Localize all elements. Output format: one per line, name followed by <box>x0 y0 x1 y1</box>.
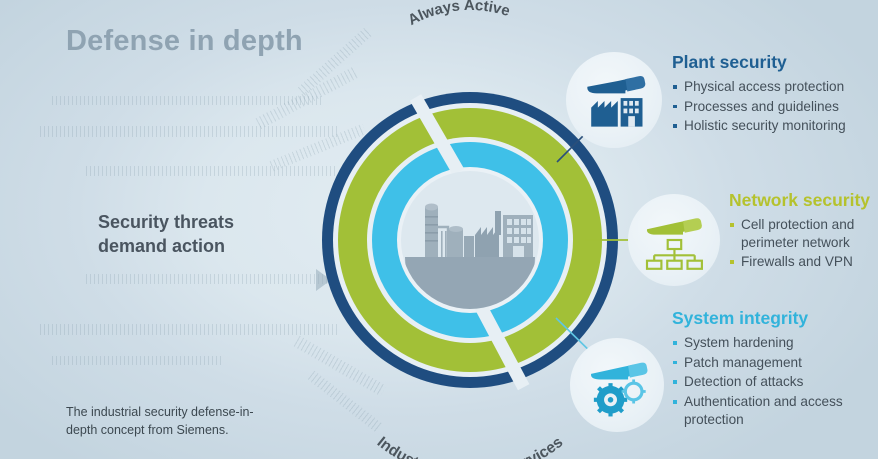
network-security-icon-bubble <box>628 194 720 286</box>
hand-over-factory-icon <box>576 62 652 138</box>
list-item: Processes and guidelines <box>672 98 878 116</box>
list-item: Authentication and access protection <box>672 393 872 428</box>
system-integrity-icon-bubble <box>570 338 664 432</box>
list-item: Physical access protection <box>672 78 878 96</box>
list-item: Patch management <box>672 354 872 372</box>
list-item: Cell protection and perimeter network <box>729 216 878 251</box>
network-security-title: Network security <box>729 190 878 211</box>
hand-over-gears-icon <box>580 348 654 422</box>
plant-security-block: Plant security Physical access protectio… <box>672 52 878 137</box>
network-security-block: Network security Cell protection and per… <box>729 190 878 273</box>
hand-over-network-tree-icon <box>638 204 710 276</box>
list-item: Firewalls and VPN <box>729 253 878 271</box>
system-integrity-title: System integrity <box>672 308 872 329</box>
defense-in-depth-infographic: Defense in depth Security threats demand… <box>0 0 878 459</box>
system-integrity-block: System integrity System hardening Patch … <box>672 308 872 430</box>
list-item: System hardening <box>672 334 872 352</box>
network-security-list: Cell protection and perimeter network Fi… <box>729 216 878 271</box>
plant-security-title: Plant security <box>672 52 878 73</box>
plant-security-list: Physical access protection Processes and… <box>672 78 878 135</box>
plant-security-icon-bubble <box>566 52 662 148</box>
list-item: Detection of attacks <box>672 373 872 391</box>
system-integrity-list: System hardening Patch management Detect… <box>672 334 872 428</box>
list-item: Holistic security monitoring <box>672 117 878 135</box>
